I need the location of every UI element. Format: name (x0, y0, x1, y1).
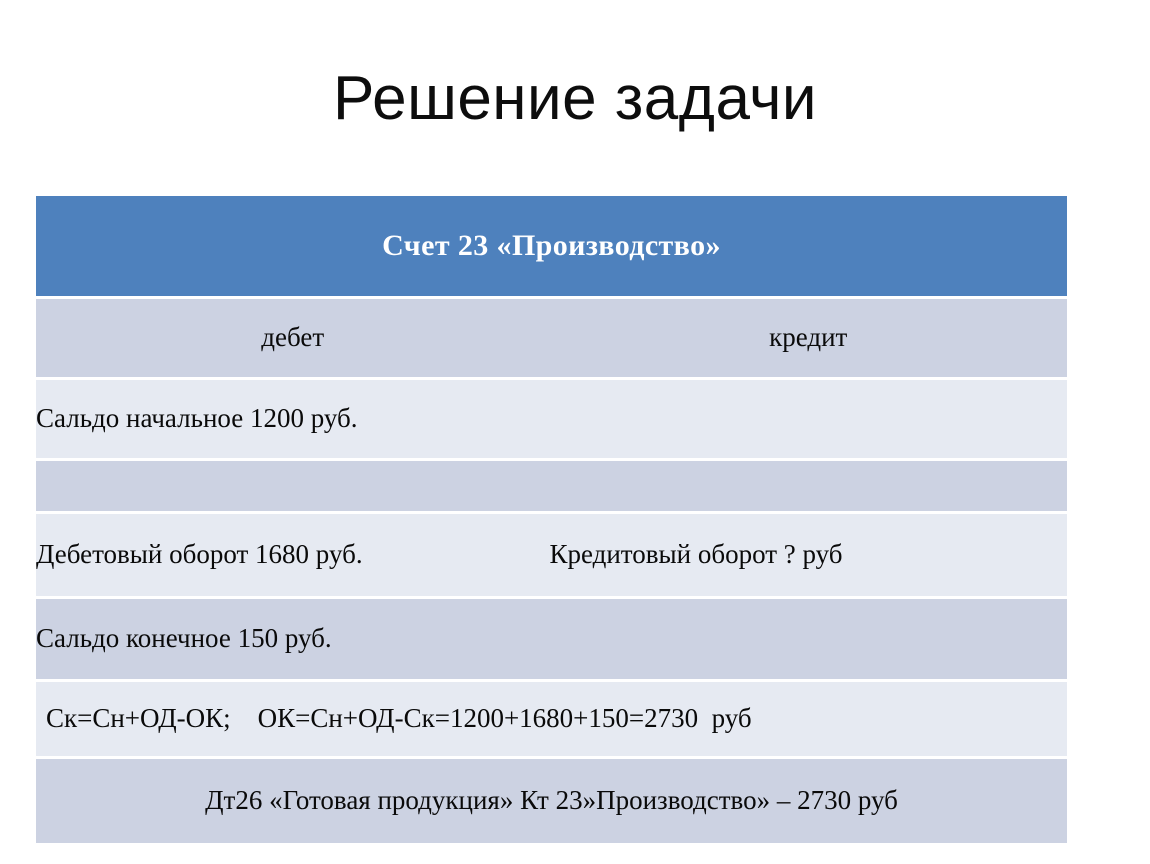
cell-journal-entry: Дт26 «Готовая продукция» Кт 23»Производс… (36, 759, 1067, 843)
cell-debit-spacer (36, 461, 549, 514)
table-row-formula: Ск=Сн+ОД-ОК; ОК=Сн+ОД-Ск=1200+1680+150=2… (36, 682, 1067, 759)
table-row-posting: Дт26 «Готовая продукция» Кт 23»Производс… (36, 759, 1067, 843)
cell-credit-closing-balance (549, 599, 1067, 682)
column-header-debit: дебет (36, 299, 549, 380)
table-column-headers-row: дебет кредит (36, 299, 1067, 380)
page-title: Решение задачи (0, 62, 1150, 136)
cell-debit-closing-balance: Сальдо конечное 150 руб. (36, 599, 549, 682)
column-header-credit: кредит (549, 299, 1067, 380)
account-title-cell: Счет 23 «Производство» (36, 196, 1067, 299)
table-row: Дебетовый оборот 1680 руб. Кредитовый об… (36, 514, 1067, 599)
account-table: Счет 23 «Производство» дебет кредит Саль… (36, 196, 1067, 843)
cell-credit-spacer (549, 461, 1067, 514)
table-row (36, 461, 1067, 514)
cell-credit-turnover: Кредитовый оборот ? руб (549, 514, 1067, 599)
table-header-row: Счет 23 «Производство» (36, 196, 1067, 299)
table-row: Сальдо начальное 1200 руб. (36, 380, 1067, 461)
cell-debit-opening-balance: Сальдо начальное 1200 руб. (36, 380, 549, 461)
table-row: Сальдо конечное 150 руб. (36, 599, 1067, 682)
cell-balance-formula: Ск=Сн+ОД-ОК; ОК=Сн+ОД-Ск=1200+1680+150=2… (36, 682, 1067, 759)
cell-credit-opening-balance (549, 380, 1067, 461)
slide-canvas: Решение задачи Счет 23 «Производство» де… (0, 0, 1150, 864)
cell-debit-turnover: Дебетовый оборот 1680 руб. (36, 514, 549, 599)
